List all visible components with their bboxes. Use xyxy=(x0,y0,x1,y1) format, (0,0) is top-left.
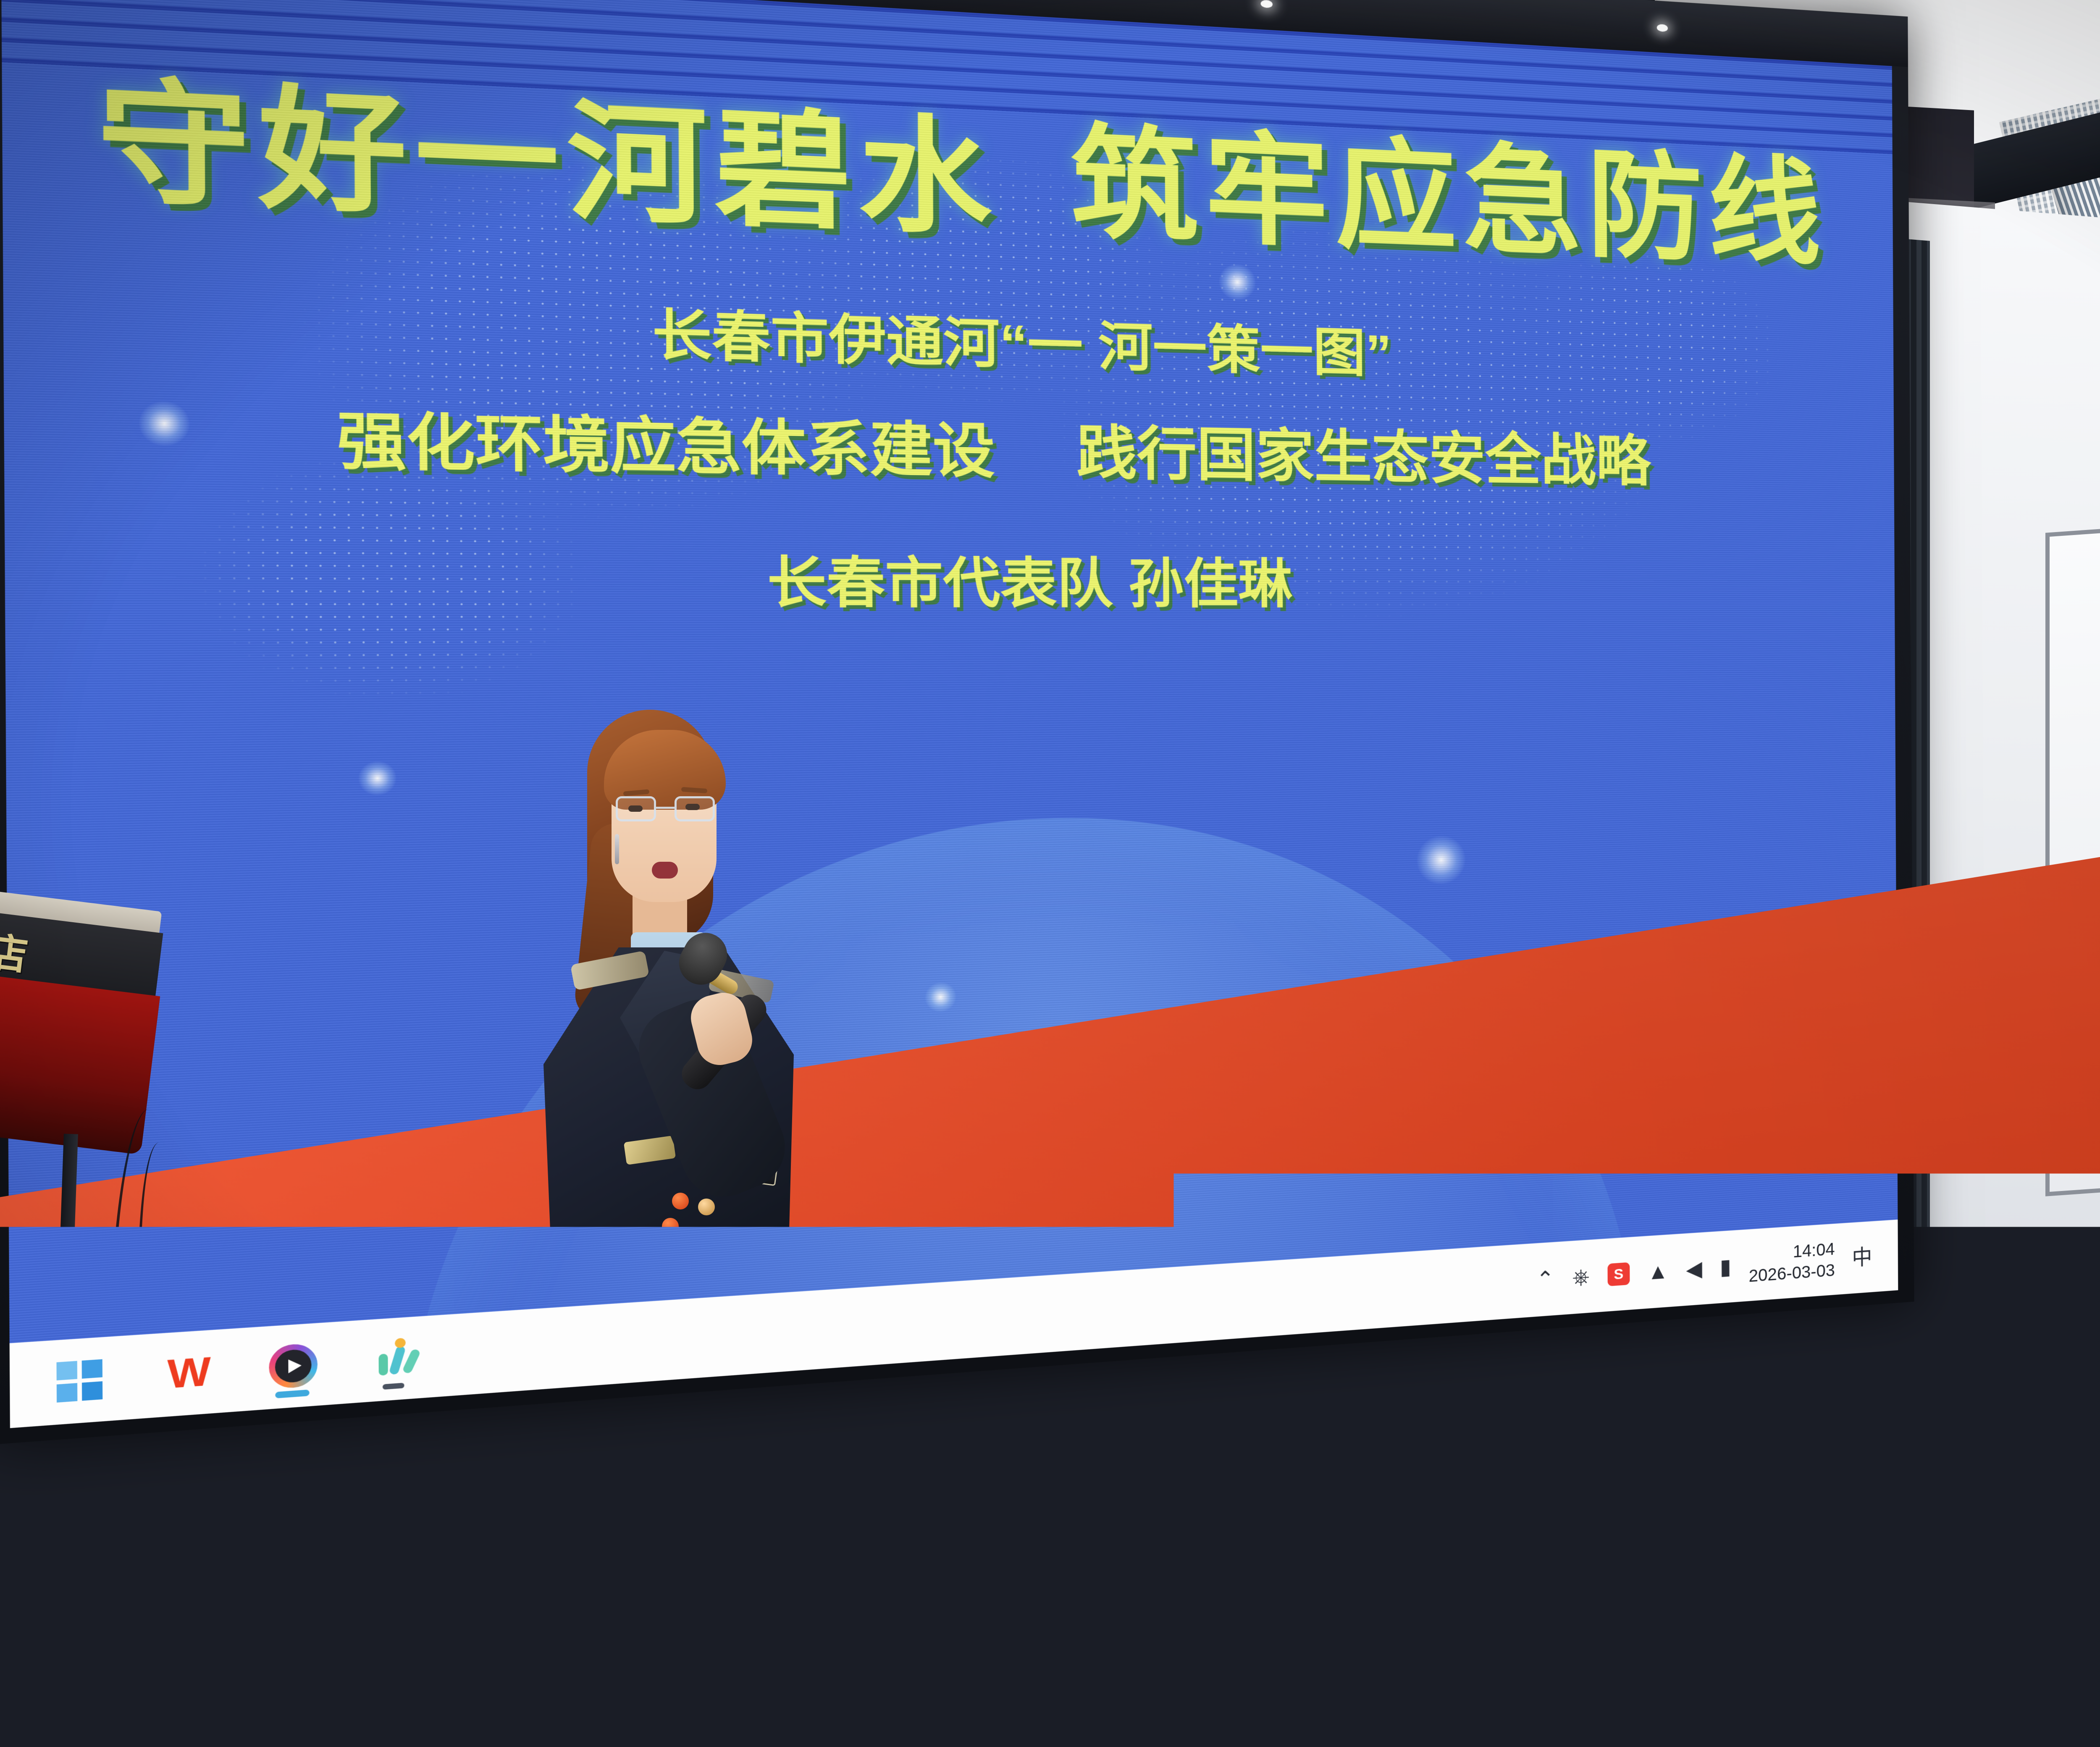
jacket-button xyxy=(692,1335,709,1352)
venue-sign-text: 饭店 xyxy=(0,913,34,982)
spotlight-icon xyxy=(1657,24,1668,32)
jacket-button xyxy=(672,1193,689,1209)
glasses-icon xyxy=(616,796,715,822)
slide-title: 守好一河碧水筑牢应急防线 xyxy=(96,67,1827,278)
spotlight-icon xyxy=(1261,0,1273,8)
slide-title-part2: 筑牢应急防线 xyxy=(1070,113,1827,279)
jacket-button xyxy=(698,1199,715,1215)
earring xyxy=(615,834,619,864)
presenter xyxy=(533,697,802,1587)
trousers xyxy=(580,1411,760,1747)
conference-hall-scene: 守好一河碧水筑牢应急防线 长春市伊通河“一 河一策一图” 强化环境应急体系建设 … xyxy=(0,0,2100,1747)
slide-author: 长春市代表队 孙佳琳 xyxy=(767,538,1292,618)
slide-slogan-right: 践行国家生态安全战略 xyxy=(1076,406,1651,497)
slide-slogan-left: 强化环境应急体系建设 xyxy=(336,391,995,489)
jacket-button xyxy=(662,1218,679,1235)
slide-slogan-row: 强化环境应急体系建设 践行国家生态安全战略 xyxy=(336,391,1651,497)
slide-title-part1: 守好一河碧水 xyxy=(96,66,998,250)
slide-subtitle: 长春市伊通河“一 河一策一图” xyxy=(652,290,1391,387)
mouth xyxy=(652,862,678,879)
